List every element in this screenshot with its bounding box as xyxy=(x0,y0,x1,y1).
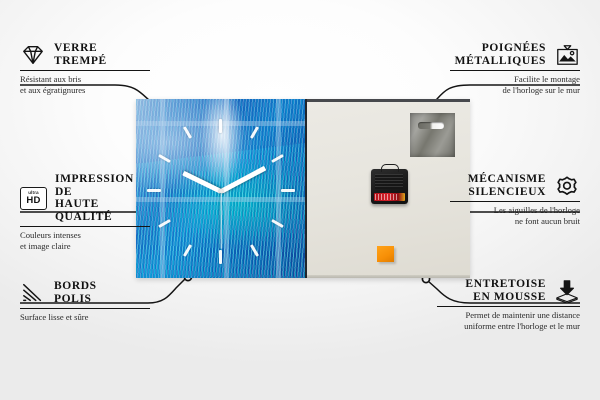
arrow-onto-pad-icon xyxy=(554,279,580,303)
foam-spacer xyxy=(377,246,394,262)
battery-label-text xyxy=(375,194,397,200)
diagonal-lines-icon xyxy=(20,281,46,305)
feature-subtitle: Résistant aux bris et aux égratignures xyxy=(20,74,150,94)
hour-tick xyxy=(219,119,222,133)
feature-header: POIGNÉES MÉTALLIQUES xyxy=(450,42,580,67)
feature-divider xyxy=(20,226,150,227)
clock-face xyxy=(136,99,305,278)
feature-subtitle: Permet de maintenir une distance uniform… xyxy=(437,310,580,330)
mechanism-detail xyxy=(375,174,403,189)
feature-divider xyxy=(20,308,150,309)
feature-title: ENTRETOISE EN MOUSSE xyxy=(465,278,546,303)
feature-header: BORDS POLIS xyxy=(20,280,150,305)
gear-icon xyxy=(554,174,580,198)
ultra-hd-icon: ultra HD xyxy=(20,187,47,210)
second-hand xyxy=(220,191,221,249)
diamond-icon xyxy=(20,43,46,67)
feature-impression-haute-qualite: ultra HD IMPRESSION DE HAUTE QUALITÉ Cou… xyxy=(20,173,150,251)
feature-entretoise-en-mousse: ENTRETOISE EN MOUSSE Permet de maintenir… xyxy=(437,278,580,331)
feature-divider xyxy=(437,306,580,307)
ultra-hd-icon-bottom: HD xyxy=(26,196,40,206)
framed-picture-hanging-icon xyxy=(554,43,580,67)
feature-header: ultra HD IMPRESSION DE HAUTE QUALITÉ xyxy=(20,173,150,223)
feature-subtitle: Surface lisse et sûre xyxy=(20,312,150,322)
feature-verre-trempe: VERRE TREMPÉ Résistant aux bris et aux é… xyxy=(20,42,150,95)
feature-title: MÉCANISME SILENCIEUX xyxy=(468,173,546,198)
feature-divider xyxy=(450,70,580,71)
feature-subtitle: Facilite le montage de l'horloge sur le … xyxy=(450,74,580,94)
feature-divider xyxy=(450,201,580,202)
hour-tick xyxy=(281,189,295,192)
feature-header: VERRE TREMPÉ xyxy=(20,42,150,67)
feature-poignees-metalliques: POIGNÉES MÉTALLIQUES Facilite le montage… xyxy=(450,42,580,95)
feature-title: POIGNÉES MÉTALLIQUES xyxy=(455,42,546,67)
face-highlight xyxy=(200,99,244,189)
feature-subtitle: Couleurs intenses et image claire xyxy=(20,230,150,250)
panel-top-edge xyxy=(307,99,470,102)
hand-cap xyxy=(219,189,223,193)
feature-subtitle: Les aiguilles de l'horloge ne font aucun… xyxy=(450,205,580,225)
feature-title: IMPRESSION DE HAUTE QUALITÉ xyxy=(55,173,150,223)
hour-tick xyxy=(219,250,222,264)
infographic-stage: VERRE TREMPÉ Résistant aux bris et aux é… xyxy=(0,0,600,400)
feature-mecanisme-silencieux: MÉCANISME SILENCIEUX Les aiguilles de l'… xyxy=(450,173,580,226)
feature-divider xyxy=(20,70,150,71)
clock-back-panel xyxy=(305,99,470,278)
metal-hanger-plate xyxy=(410,113,455,157)
quartz-mechanism xyxy=(371,169,408,204)
hanger-slot xyxy=(418,122,444,129)
product-image xyxy=(136,99,470,278)
mechanism-bail xyxy=(381,164,399,172)
feature-bords-polis: BORDS POLIS Surface lisse et sûre xyxy=(20,280,150,323)
feature-title: VERRE TREMPÉ xyxy=(54,42,107,67)
feature-title: BORDS POLIS xyxy=(54,280,97,305)
feature-header: ENTRETOISE EN MOUSSE xyxy=(437,278,580,303)
feature-header: MÉCANISME SILENCIEUX xyxy=(450,173,580,198)
